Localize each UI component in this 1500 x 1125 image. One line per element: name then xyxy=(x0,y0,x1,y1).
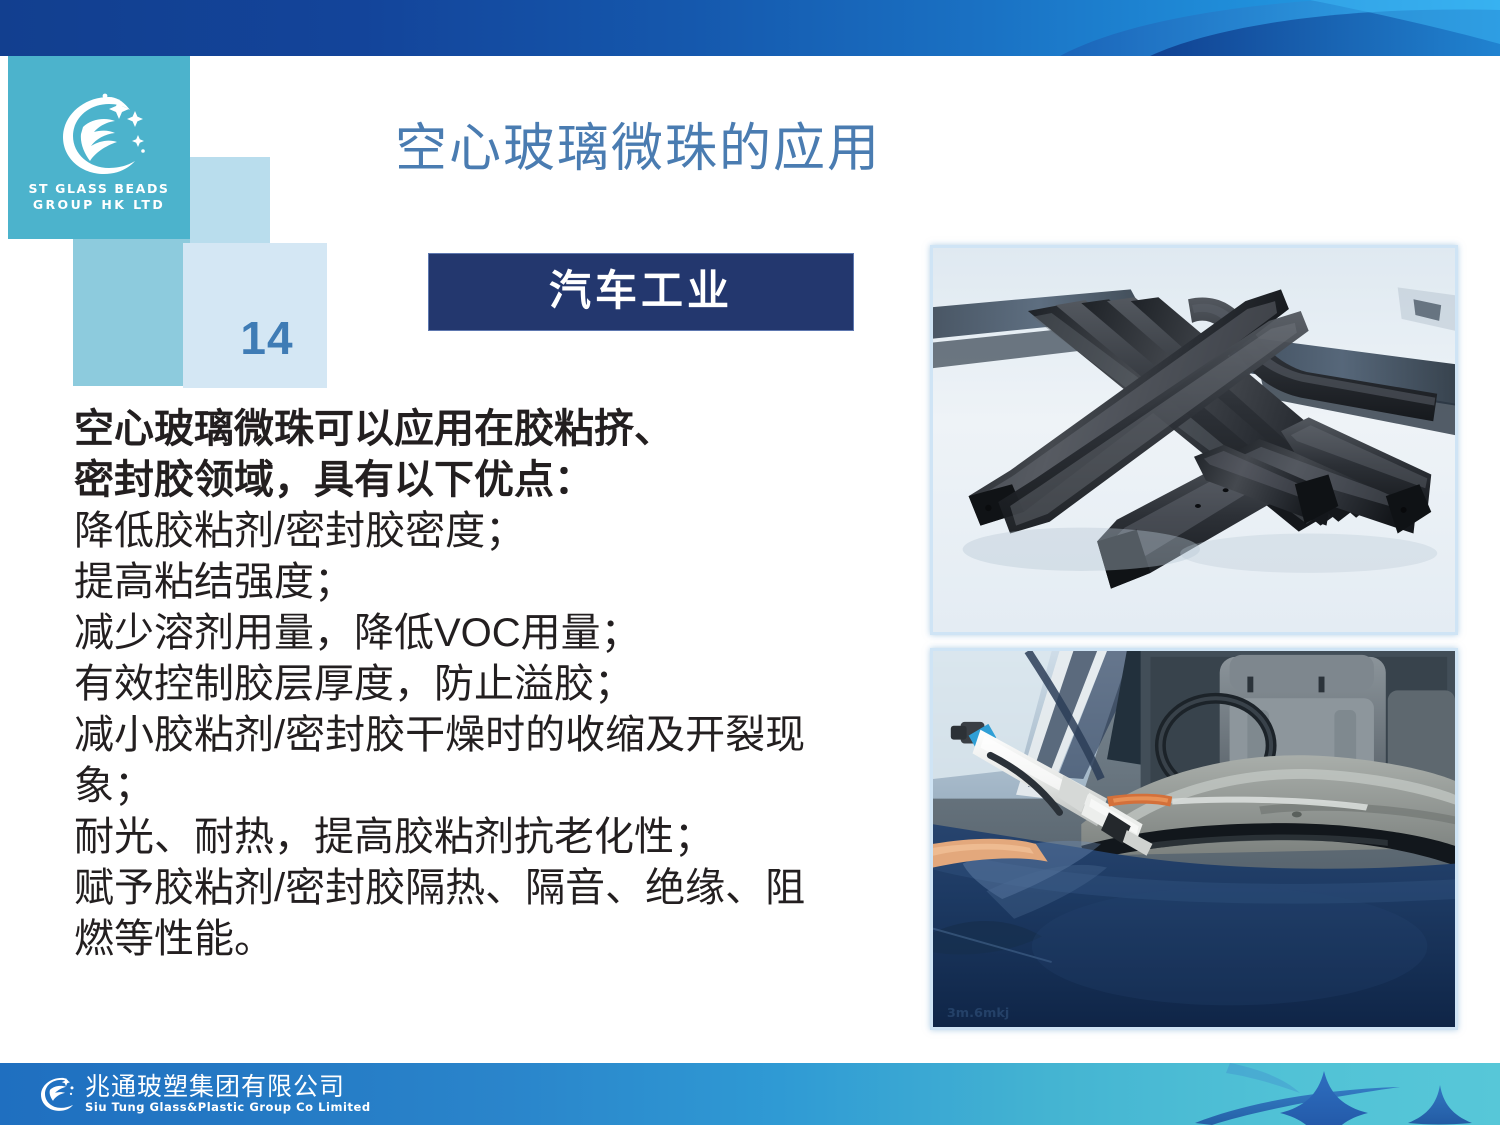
body-copy: 空心玻璃微珠可以应用在胶粘挤、密封胶领域，具有以下优点：降低胶粘剂/密封胶密度；… xyxy=(74,404,922,965)
brand-logo-line-1: ST GLASS BEADS xyxy=(28,181,169,197)
body-line: 降低胶粘剂/密封胶密度； xyxy=(74,506,922,557)
section-badge: 汽车工业 xyxy=(428,253,854,331)
footer-bar: 兆通玻塑集团有限公司 Siu Tung Glass&Plastic Group … xyxy=(0,1063,1500,1125)
body-line: 耐光、耐热，提高胶粘剂抗老化性； xyxy=(74,812,922,863)
body-line: 提高粘结强度； xyxy=(74,557,922,608)
top-banner-swoosh-decoration xyxy=(0,0,1500,56)
slide-title: 空心玻璃微珠的应用 xyxy=(395,123,881,175)
rubber-seal-strips-image xyxy=(933,248,1455,632)
windshield-sealant-image: 3m.6mkj xyxy=(933,651,1455,1027)
decor-square-pale-upper xyxy=(186,157,270,243)
footer-company-name-cn: 兆通玻塑集团有限公司 xyxy=(85,1074,371,1101)
footer-brand: 兆通玻塑集团有限公司 Siu Tung Glass&Plastic Group … xyxy=(36,1074,371,1114)
photo-rubber-seal-strips xyxy=(930,245,1458,635)
footer-crescent-swirl-logo-icon xyxy=(36,1074,76,1114)
brand-logo-line-2: GROUP HK LTD xyxy=(33,197,165,213)
photo-windshield-sealant-application: 3m.6mkj xyxy=(930,648,1458,1030)
page-number-block: 14 xyxy=(183,243,327,388)
page-number: 14 xyxy=(240,315,293,361)
body-line: 赋予胶粘剂/密封胶隔热、隔音、绝缘、阻 xyxy=(74,863,922,914)
body-line: 象； xyxy=(74,761,922,812)
crescent-swirl-logo-icon xyxy=(47,89,151,181)
svg-text:3m.6mkj: 3m.6mkj xyxy=(947,1006,1009,1021)
footer-company-name-en: Siu Tung Glass&Plastic Group Co Limited xyxy=(85,1101,371,1114)
section-badge-label: 汽车工业 xyxy=(549,270,733,312)
slide-canvas: 14 ST GLASS BEADS GROUP HK LTD 空心玻璃微珠的应用… xyxy=(0,0,1500,1125)
body-line: 有效控制胶层厚度，防止溢胶； xyxy=(74,659,922,710)
body-line: 空心玻璃微珠可以应用在胶粘挤、 xyxy=(74,404,922,455)
body-line: 密封胶领域，具有以下优点： xyxy=(74,455,922,506)
body-line: 燃等性能。 xyxy=(74,914,922,965)
body-line: 减少溶剂用量，降低VOC用量； xyxy=(74,608,922,659)
body-line: 减小胶粘剂/密封胶干燥时的收缩及开裂现 xyxy=(74,710,922,761)
brand-logo-box: ST GLASS BEADS GROUP HK LTD xyxy=(8,56,190,239)
top-banner xyxy=(0,0,1500,56)
